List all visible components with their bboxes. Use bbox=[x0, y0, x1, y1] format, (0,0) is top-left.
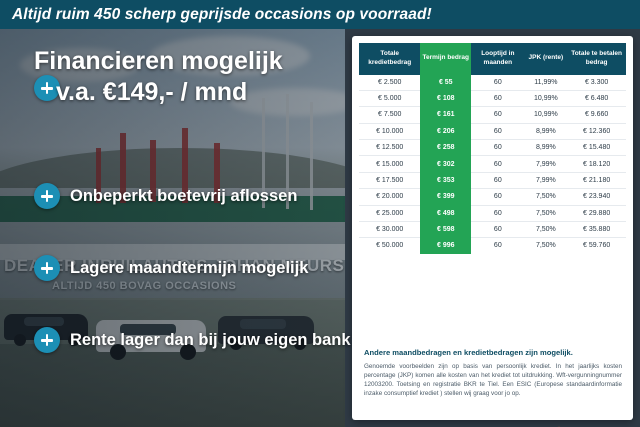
table-row: € 2.500€ 556011,99%€ 3.300 bbox=[359, 75, 626, 91]
col-header-duration: Looptijd in maanden bbox=[471, 43, 524, 75]
headline-line-2: v.a. €149,- / mnd bbox=[34, 79, 334, 107]
table-row: € 30.000€ 598607,50%€ 35.880 bbox=[359, 221, 626, 237]
cell-total-payable: € 18.120 bbox=[567, 156, 626, 172]
cell-monthly-amount: € 996 bbox=[420, 238, 471, 254]
table-row: € 50.000€ 996607,50%€ 59.760 bbox=[359, 238, 626, 254]
table-row: € 17.500€ 353607,99%€ 21.180 bbox=[359, 172, 626, 188]
rates-table-wrapper: Totale kredietbedrag Termijn bedrag Loop… bbox=[359, 43, 626, 339]
cell-apr: 10,99% bbox=[525, 90, 568, 106]
cell-monthly-amount: € 353 bbox=[420, 172, 471, 188]
panel-note-body: Genoemde voorbeelden zijn op basis van p… bbox=[364, 363, 622, 399]
table-header-row: Totale kredietbedrag Termijn bedrag Loop… bbox=[359, 43, 626, 75]
cell-total-credit: € 7.500 bbox=[359, 107, 420, 123]
cell-monthly-amount: € 498 bbox=[420, 205, 471, 221]
table-row: € 15.000€ 302607,99%€ 18.120 bbox=[359, 156, 626, 172]
cell-total-payable: € 12.360 bbox=[567, 123, 626, 139]
cell-apr: 7,99% bbox=[525, 156, 568, 172]
cell-total-credit: € 30.000 bbox=[359, 221, 420, 237]
cell-total-payable: € 15.480 bbox=[567, 140, 626, 156]
cell-total-payable: € 29.880 bbox=[567, 205, 626, 221]
cell-total-credit: € 12.500 bbox=[359, 140, 420, 156]
top-banner: Altijd ruim 450 scherp geprijsde occasio… bbox=[0, 0, 640, 29]
cell-total-credit: € 5.000 bbox=[359, 90, 420, 106]
cell-monthly-amount: € 399 bbox=[420, 189, 471, 205]
cell-duration: 60 bbox=[471, 107, 524, 123]
cell-total-credit: € 15.000 bbox=[359, 156, 420, 172]
cell-monthly-amount: € 161 bbox=[420, 107, 471, 123]
promo-image: DEALER INRUILAUTO'S JOHAN MEURS ALTIJD 4… bbox=[0, 0, 640, 427]
cell-total-credit: € 2.500 bbox=[359, 75, 420, 91]
table-row: € 20.000€ 399607,50%€ 23.940 bbox=[359, 189, 626, 205]
bullet-label: Rente lager dan bij jouw eigen bank bbox=[70, 331, 351, 350]
panel-note-title: Andere maandbedragen en kredietbedragen … bbox=[364, 348, 622, 358]
plus-circle-icon bbox=[34, 255, 60, 281]
cell-apr: 10,99% bbox=[525, 107, 568, 123]
cell-total-payable: € 23.940 bbox=[567, 189, 626, 205]
cell-total-credit: € 20.000 bbox=[359, 189, 420, 205]
table-row: € 25.000€ 498607,50%€ 29.880 bbox=[359, 205, 626, 221]
cell-total-credit: € 25.000 bbox=[359, 205, 420, 221]
cell-duration: 60 bbox=[471, 238, 524, 254]
cell-duration: 60 bbox=[471, 75, 524, 91]
cell-total-payable: € 59.760 bbox=[567, 238, 626, 254]
table-row: € 5.000€ 1086010,99%€ 6.480 bbox=[359, 90, 626, 106]
cell-monthly-amount: € 598 bbox=[420, 221, 471, 237]
cell-duration: 60 bbox=[471, 221, 524, 237]
cell-apr: 11,99% bbox=[525, 75, 568, 91]
cell-total-credit: € 17.500 bbox=[359, 172, 420, 188]
table-row: € 7.500€ 1616010,99%€ 9.660 bbox=[359, 107, 626, 123]
cell-duration: 60 bbox=[471, 156, 524, 172]
cell-monthly-amount: € 206 bbox=[420, 123, 471, 139]
cell-monthly-amount: € 258 bbox=[420, 140, 471, 156]
cell-apr: 8,99% bbox=[525, 140, 568, 156]
bullet-item-2: Lagere maandtermijn mogelijk bbox=[34, 255, 308, 281]
table-row: € 12.500€ 258608,99%€ 15.480 bbox=[359, 140, 626, 156]
cell-total-payable: € 3.300 bbox=[567, 75, 626, 91]
cell-apr: 7,99% bbox=[525, 172, 568, 188]
table-row: € 10.000€ 206608,99%€ 12.360 bbox=[359, 123, 626, 139]
bullet-item-3: Rente lager dan bij jouw eigen bank bbox=[34, 327, 351, 353]
cell-apr: 7,50% bbox=[525, 205, 568, 221]
cell-apr: 7,50% bbox=[525, 189, 568, 205]
cell-monthly-amount: € 55 bbox=[420, 75, 471, 91]
cell-duration: 60 bbox=[471, 123, 524, 139]
cell-duration: 60 bbox=[471, 90, 524, 106]
bullet-item-1: Onbeperkt boetevrij aflossen bbox=[34, 183, 297, 209]
col-header-apr: JPK (rente) bbox=[525, 43, 568, 75]
cell-duration: 60 bbox=[471, 172, 524, 188]
cell-monthly-amount: € 108 bbox=[420, 90, 471, 106]
headline-block: Financieren mogelijk v.a. €149,- / mnd bbox=[34, 48, 334, 107]
banner-text: Altijd ruim 450 scherp geprijsde occasio… bbox=[0, 6, 432, 24]
cell-total-payable: € 6.480 bbox=[567, 90, 626, 106]
cell-apr: 7,50% bbox=[525, 221, 568, 237]
cell-total-payable: € 9.660 bbox=[567, 107, 626, 123]
bullet-label: Onbeperkt boetevrij aflossen bbox=[70, 187, 297, 206]
plus-circle-icon bbox=[34, 327, 60, 353]
headline-line-1: Financieren mogelijk bbox=[34, 48, 334, 75]
col-header-total-payable: Totale te betalen bedrag bbox=[567, 43, 626, 75]
cell-total-credit: € 50.000 bbox=[359, 238, 420, 254]
bullet-label: Lagere maandtermijn mogelijk bbox=[70, 259, 308, 278]
rates-panel: Totale kredietbedrag Termijn bedrag Loop… bbox=[352, 36, 633, 420]
cell-duration: 60 bbox=[471, 205, 524, 221]
cell-total-credit: € 10.000 bbox=[359, 123, 420, 139]
cell-duration: 60 bbox=[471, 189, 524, 205]
cell-duration: 60 bbox=[471, 140, 524, 156]
cell-apr: 7,50% bbox=[525, 238, 568, 254]
plus-circle-icon bbox=[34, 183, 60, 209]
cell-total-payable: € 35.880 bbox=[567, 221, 626, 237]
cell-apr: 8,99% bbox=[525, 123, 568, 139]
col-header-monthly-amount: Termijn bedrag bbox=[420, 43, 471, 75]
rates-table: Totale kredietbedrag Termijn bedrag Loop… bbox=[359, 43, 626, 254]
cell-total-payable: € 21.180 bbox=[567, 172, 626, 188]
cell-monthly-amount: € 302 bbox=[420, 156, 471, 172]
col-header-total-credit: Totale kredietbedrag bbox=[359, 43, 420, 75]
